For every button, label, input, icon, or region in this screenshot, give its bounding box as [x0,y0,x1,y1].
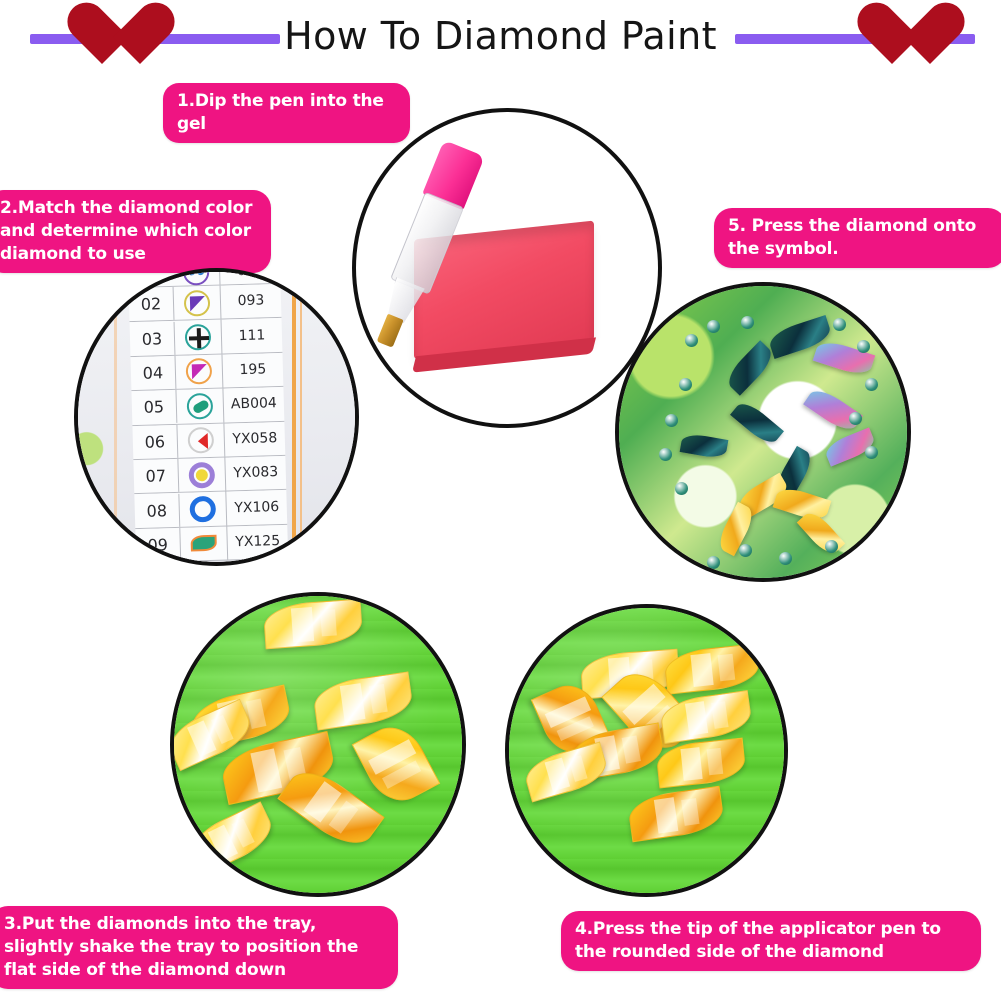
leaf-icon [190,530,217,557]
chart-row-symbol [175,354,223,389]
capsule-icon [187,393,214,420]
chart-row-number: 08 [134,493,180,527]
chart-row-number: 07 [133,459,179,493]
canvas-edge [74,392,116,566]
chart-row-number: 04 [131,356,177,390]
step-5-photo [615,282,911,582]
triangle-corner-icon [184,290,211,317]
diamond-canvas [619,286,907,578]
step-1-photo [352,108,662,428]
chart-row-code: YX083 [225,456,286,491]
chart-row-code: YX125 [227,525,288,560]
filled-dot-icon [188,461,215,488]
chart-row: 09YX125 [135,525,288,564]
diamond-marquise [723,340,778,396]
chart-stripe-left [114,268,117,566]
diamond-round [707,320,720,333]
diamond-round [707,556,720,569]
step-4-photo [505,604,788,897]
diamond-round [865,378,878,391]
diamond-marquise [680,432,729,460]
chart-row-number: 03 [130,321,176,355]
chart-row-symbol [174,286,222,321]
triangle-corner-icon [186,358,213,385]
chart-row-code: 195 [222,353,283,388]
page-title: How To Diamond Paint [0,13,1001,59]
color-chart-table: 02802093031110419505AB00406YX05807YX0830… [128,268,288,563]
double-dot-circle-icon [183,268,210,286]
chart-row: 02093 [129,284,282,323]
step-4-label: 4.Press the tip of the applicator pen to… [561,911,981,971]
chart-row-symbol [178,457,226,492]
diamond-round [825,540,838,553]
chart-row-number [128,273,173,274]
diamond-round [739,544,752,557]
diamond-round [679,378,692,391]
chart-row-symbol [175,320,223,355]
diamond-round [675,482,688,495]
diamond-round [779,552,792,565]
diamond-marquise [803,384,863,435]
chart-row-code: YX058 [224,422,285,457]
plus-icon [185,324,212,351]
chart-row: 05AB004 [131,387,284,426]
chart-row-number: 02 [129,287,175,321]
chart-row: 07YX083 [133,456,286,495]
chart-row-symbol [180,526,228,561]
diamond-round [833,318,846,331]
chart-row-code: 093 [221,284,282,319]
diamond-round [857,340,870,353]
chart-row: 08YX106 [134,490,287,529]
chart-stripe-right [292,268,296,566]
chart-row-number: 05 [131,390,177,424]
pen-tip [377,314,404,348]
diamond-round [685,334,698,347]
diamond-round [665,414,678,427]
chart-row-symbol [176,389,224,424]
chart-row: 03111 [130,318,283,357]
step-3-label: 3.Put the diamonds into the tray, slight… [0,906,398,989]
chart-row-code: YX106 [226,490,287,525]
chevron-left-icon [188,427,215,454]
chart-row-symbol [179,492,227,527]
step-2-label: 2.Match the diamond color and determine … [0,190,271,273]
chart-stripe-right-thin [300,268,302,566]
chart-row-symbol [177,423,225,458]
chart-row: 06YX058 [132,421,285,460]
diamond-round [741,316,754,329]
color-chart-sheet: 02802093031110419505AB00406YX05807YX0830… [74,268,359,566]
step-2-photo: 02802093031110419505AB00406YX05807YX0830… [74,268,359,566]
chart-row-code: AB004 [223,387,284,422]
step-3-photo [170,592,466,897]
diamond-round [865,446,878,459]
diamond-round [659,448,672,461]
page-header: How To Diamond Paint [0,0,1001,72]
step-5-label: 5. Press the diamond onto the symbol. [714,208,1001,268]
chart-row-number: 09 [135,528,181,562]
chart-row-number: 06 [132,425,178,459]
step-1-label: 1.Dip the pen into the gel [163,83,410,143]
ring-icon [189,496,216,523]
diamond-round [849,412,862,425]
chart-row: 04195 [131,353,284,392]
diamond-marquise [730,398,784,448]
chart-row-code: 111 [222,318,283,353]
